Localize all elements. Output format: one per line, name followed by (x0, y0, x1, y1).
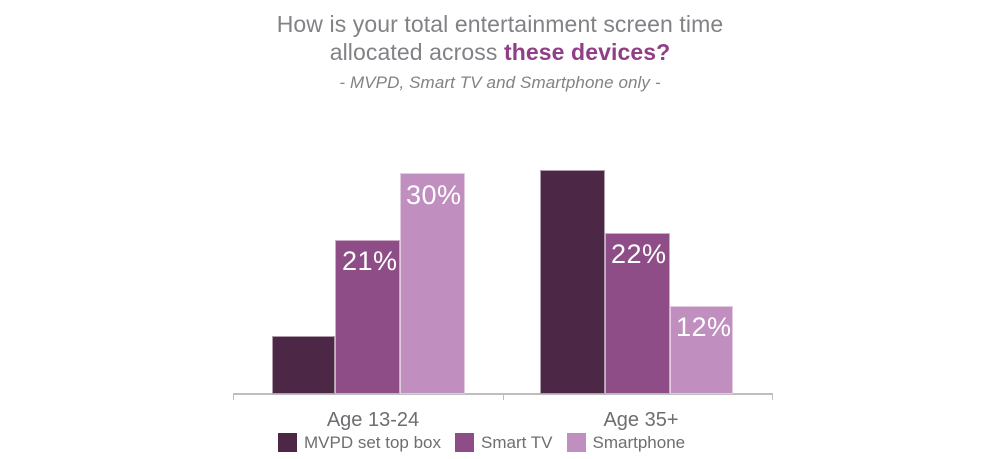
legend-swatch-smartphone (567, 433, 586, 452)
axis-tick-right (772, 395, 773, 400)
axis-tick-middle (503, 395, 504, 400)
legend-label-1: Smart TV (481, 433, 552, 452)
bar-value-label-22: 22% (611, 241, 667, 268)
legend-item-2[interactable]: Smartphone (567, 433, 700, 452)
bar-age13-24-mvpd (272, 336, 335, 394)
bar-value-label-12: 12% (676, 314, 732, 341)
bar-chart-plot-area: 21%30%22%12% Age 13-24Age 35+ (0, 0, 1000, 459)
bar-value-label-30: 30% (406, 182, 462, 209)
group-label-age-35-plus: Age 35+ (576, 409, 706, 431)
axis-tick-left (233, 395, 234, 400)
legend-label-0: MVPD set top box (304, 433, 441, 452)
group-label-age-13-24: Age 13-24 (308, 409, 438, 431)
legend-item-0[interactable]: MVPD set top box (278, 433, 455, 452)
chart-legend: MVPD set top boxSmart TVSmartphone (278, 430, 699, 454)
bar-age35plus-mvpd (540, 170, 605, 394)
legend-label-2: Smartphone (593, 433, 686, 452)
legend-swatch-smart-tv (455, 433, 474, 452)
legend-swatch-mvpd (278, 433, 297, 452)
legend-item-1[interactable]: Smart TV (455, 433, 566, 452)
bar-value-label-21: 21% (342, 248, 398, 275)
